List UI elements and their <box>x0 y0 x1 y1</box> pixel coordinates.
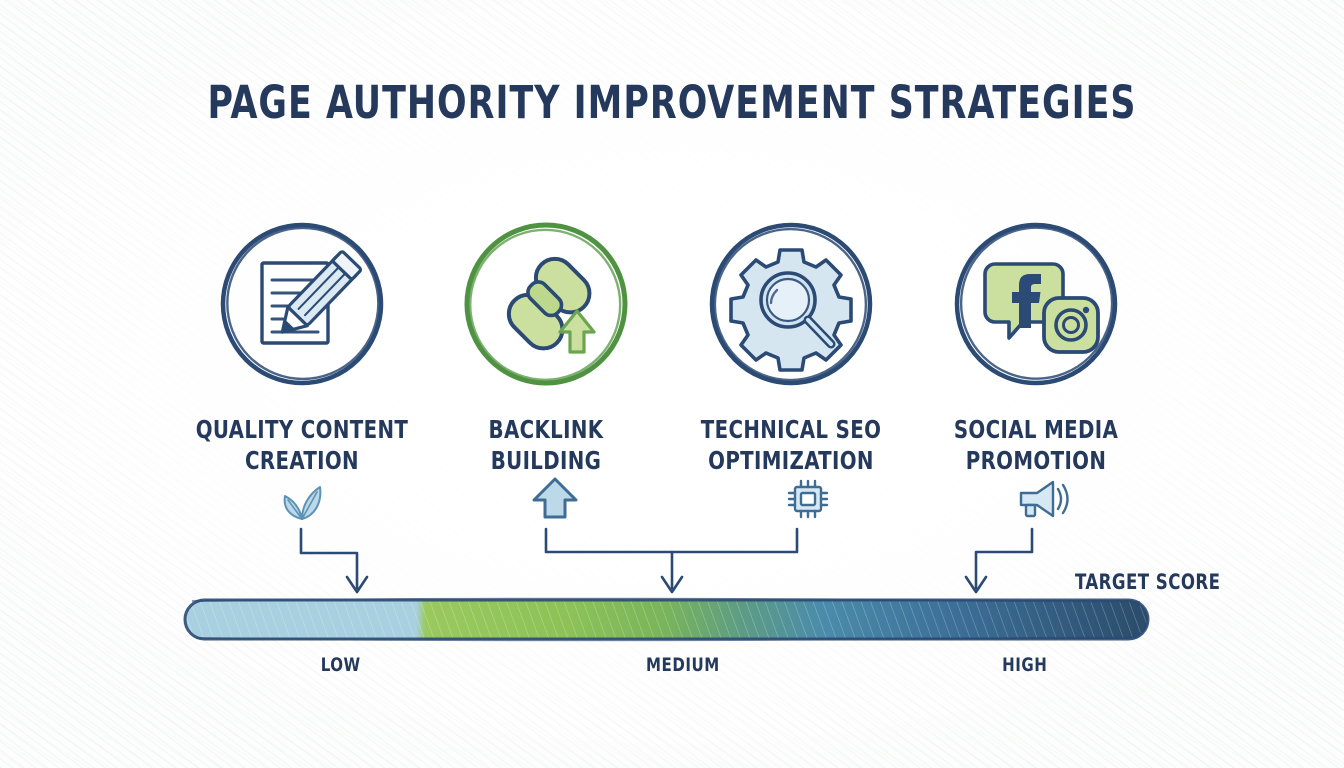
connector-social-media <box>966 529 1032 592</box>
scale-tick-low: LOW <box>321 654 361 676</box>
scale-tick-medium: MEDIUM <box>646 654 720 676</box>
scale-tick-high: HIGH <box>1002 654 1047 676</box>
connector-quality-content <box>301 529 367 592</box>
score-bar[interactable] <box>185 599 1148 641</box>
connector-backlink-technical <box>546 529 797 592</box>
score-scale-diagram <box>0 0 1344 768</box>
target-score-label: TARGET SCORE <box>1075 570 1220 594</box>
infographic-canvas: PAGE AUTHORITY IMPROVEMENT STRATEGIES <box>0 0 1344 768</box>
